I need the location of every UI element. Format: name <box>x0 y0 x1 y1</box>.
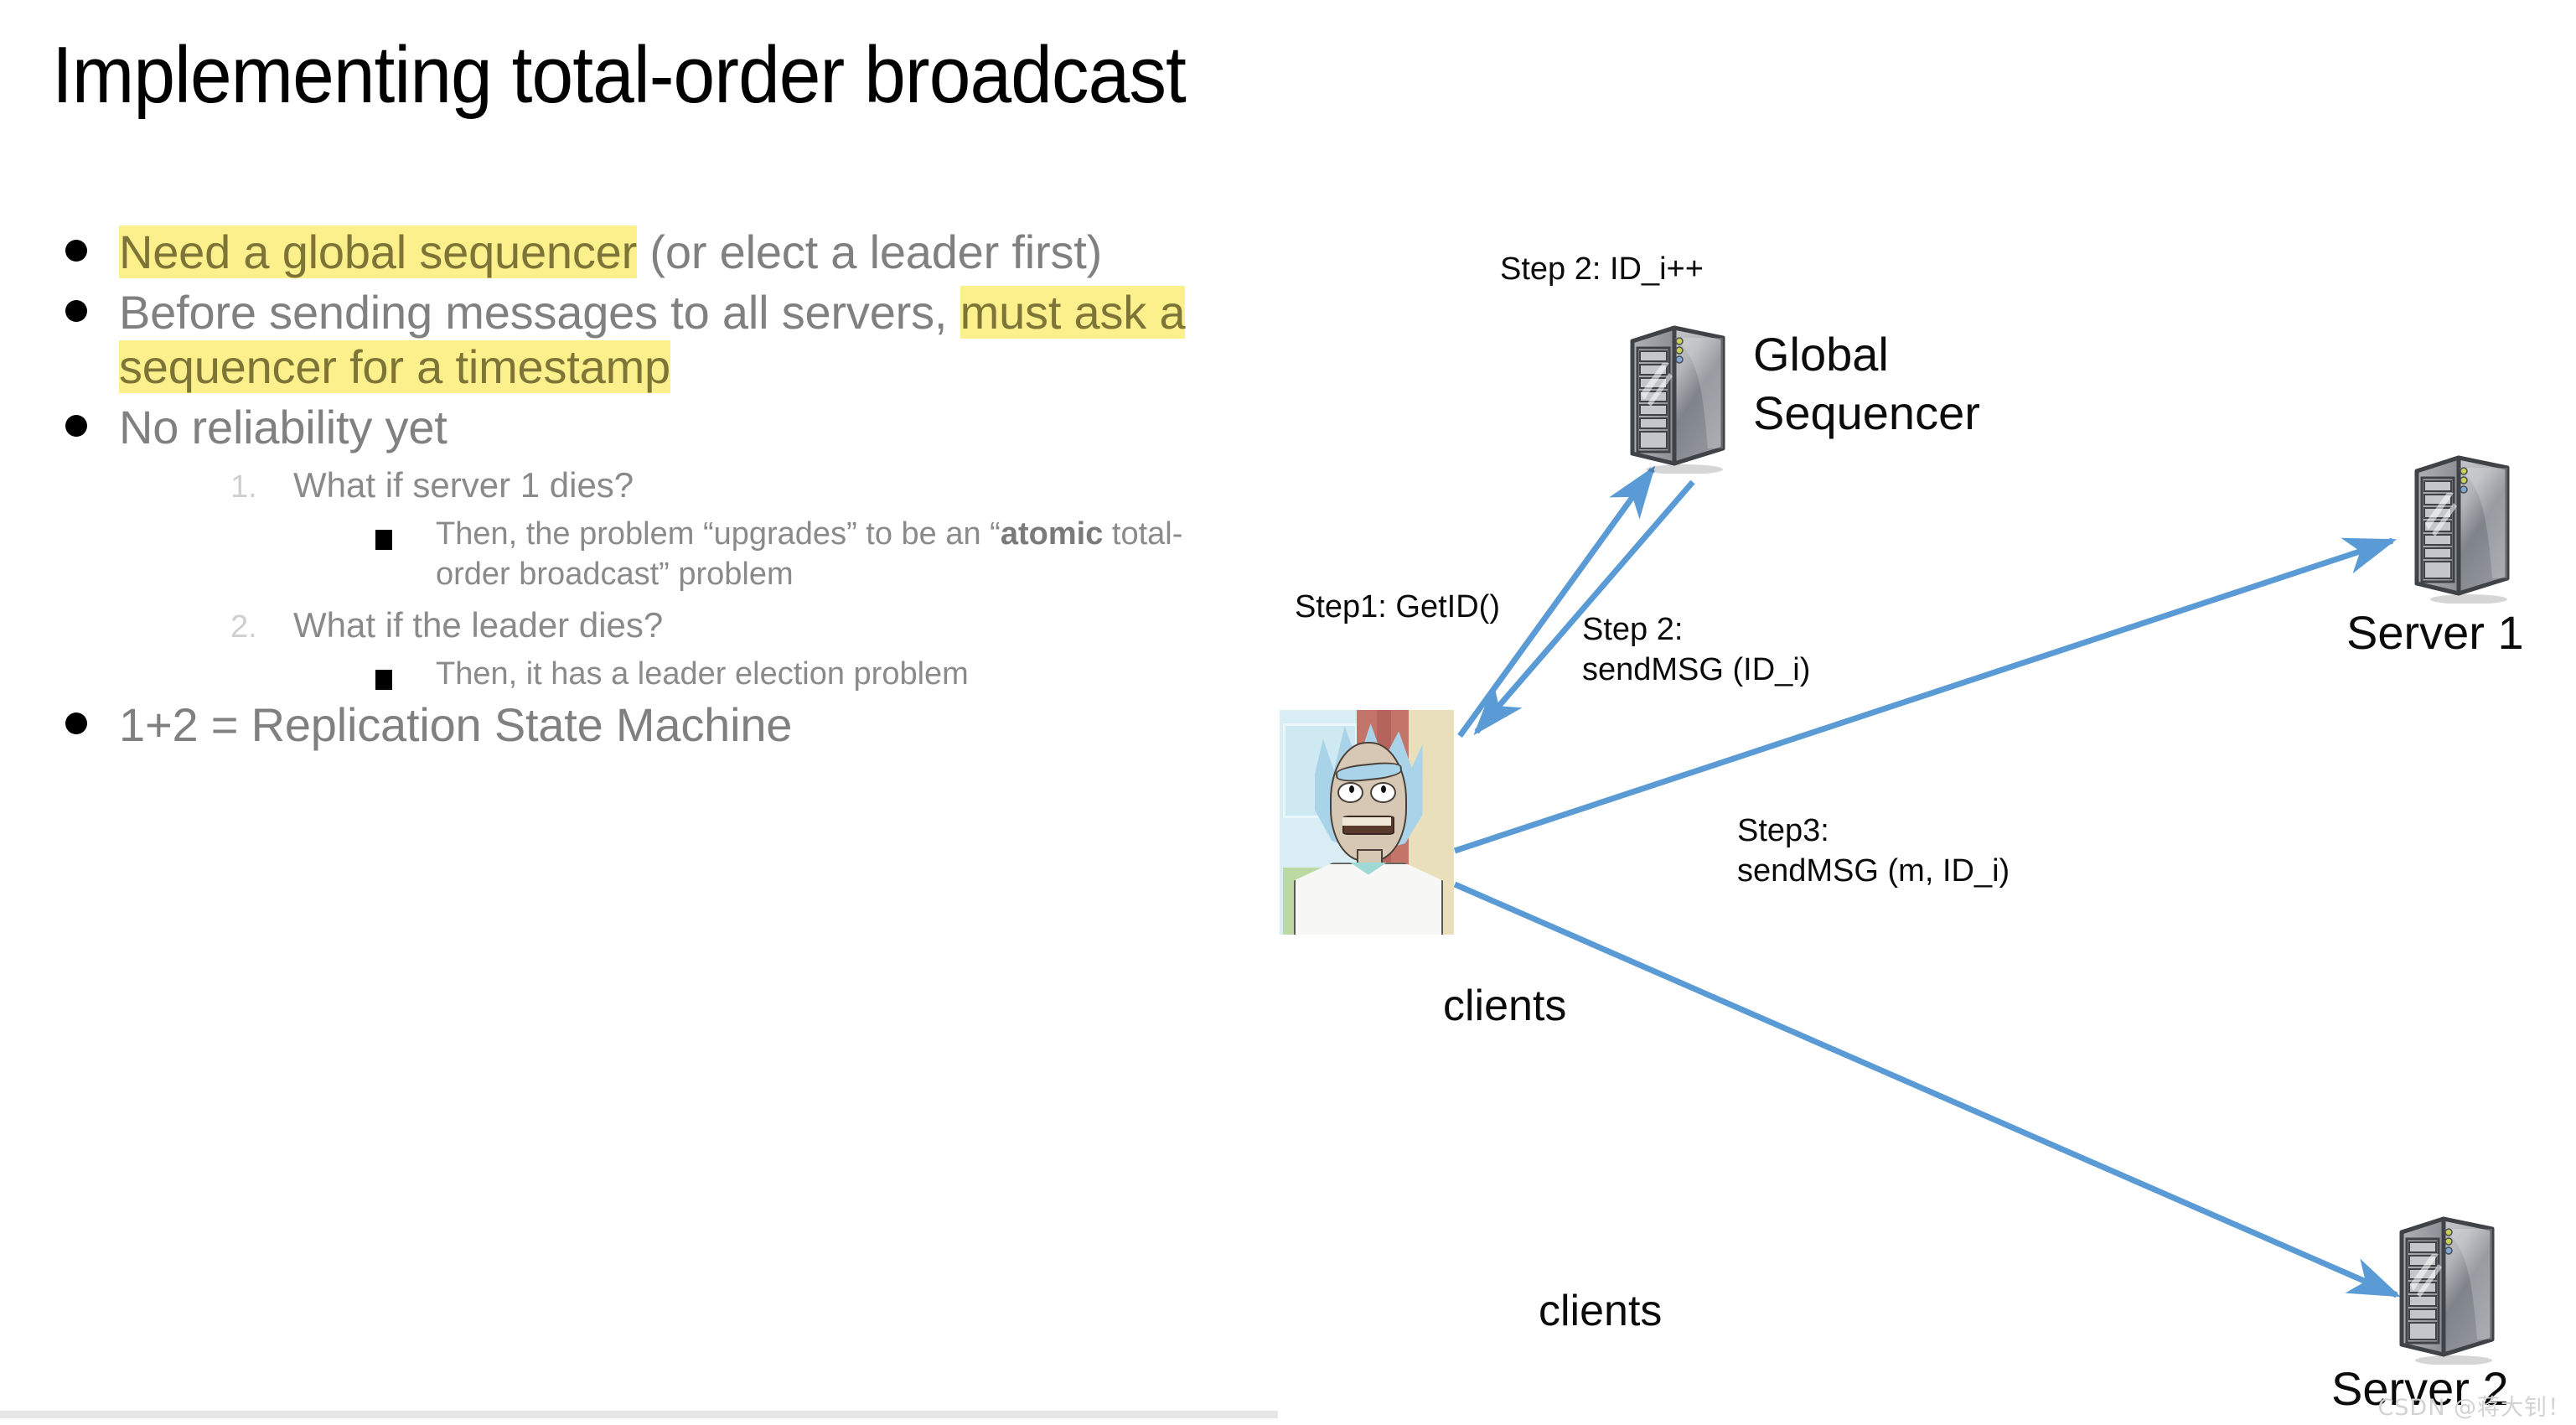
label-clients-top: clients <box>1443 979 1566 1034</box>
rick-teeth <box>1342 817 1391 826</box>
label-step2-id-increment: Step 2: ID_i++ <box>1500 250 1704 290</box>
arrow-step3-to-server1 <box>1455 541 2392 851</box>
rick-avatar-image <box>1280 710 1454 935</box>
label-server-1: Server 1 <box>2346 604 2524 662</box>
server-tower-icon-server-1 <box>2410 453 2514 604</box>
rick-pupil-right <box>1381 785 1386 793</box>
label-global-sequencer: Global Sequencer <box>1753 325 1980 443</box>
arrow-step2-sendmsg <box>1477 482 1693 732</box>
label-step3-sendmsg: Step3: sendMSG (m, ID_i) <box>1737 811 2010 891</box>
server-tower-icon-server-2 <box>2395 1214 2499 1365</box>
server-tower-icon-global-sequencer <box>1626 323 1730 474</box>
arrow-step3-to-server2 <box>1455 884 2397 1295</box>
csdn-watermark: CSDN @蒋大钊！ <box>2377 1389 2571 1422</box>
label-step2-sendmsg: Step 2: sendMSG (ID_i) <box>1582 610 1810 690</box>
rick-face <box>1330 742 1406 862</box>
label-clients-bottom: clients <box>1539 1284 1662 1339</box>
label-step1-getid: Step1: GetID() <box>1295 588 1500 628</box>
footer-divider <box>0 1411 1278 1418</box>
architecture-diagram: Step 2: ID_i++ Global Sequencer Step1: G… <box>0 0 2576 1425</box>
